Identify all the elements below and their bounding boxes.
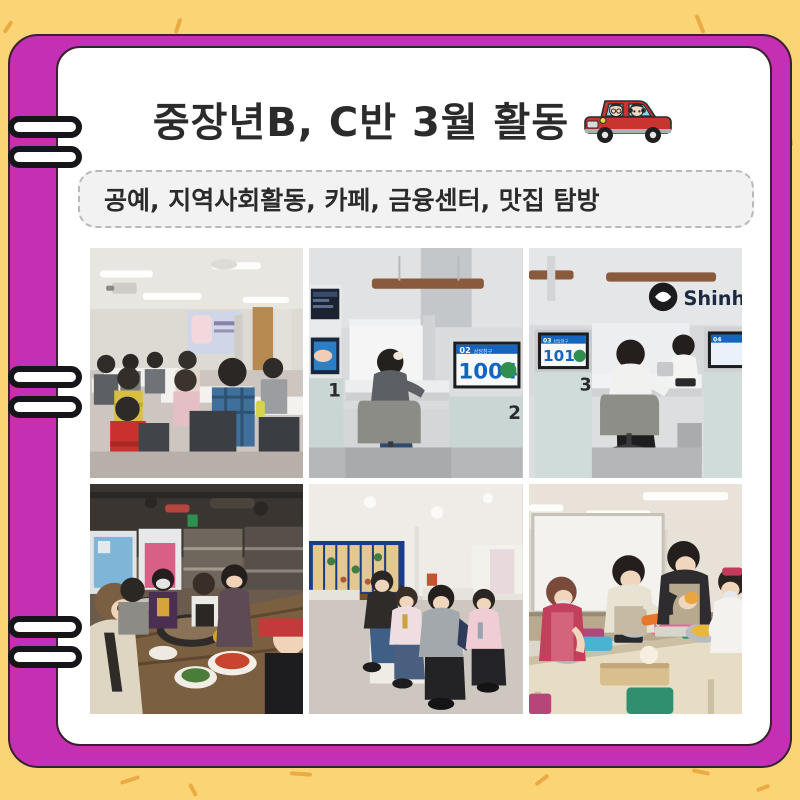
- binder-ring: [8, 396, 82, 418]
- photo-classroom-lecture: [90, 248, 303, 478]
- binder-ring: [8, 616, 82, 638]
- svg-text:상담창구: 상담창구: [553, 338, 568, 344]
- confetti-dash: [692, 768, 710, 776]
- confetti-dash: [694, 14, 705, 34]
- confetti-dash: [2, 20, 13, 34]
- svg-text:Shinha: Shinha: [683, 287, 742, 310]
- subtitle-box: 공예, 지역사회활동, 카페, 금융센터, 맛집 탐방: [78, 170, 754, 228]
- svg-text:상담창구: 상담창구: [474, 348, 493, 355]
- photo-shinhan-bank-1010: Shinha 03 상담창구 1010 3: [529, 248, 742, 478]
- svg-text:03: 03: [543, 338, 551, 345]
- page-title: 중장년B, C반 3월 활동: [153, 90, 569, 148]
- photo-bank-counter-1004: 1: [309, 248, 522, 478]
- poster-header: 중장년B, C반 3월 활동: [58, 48, 772, 248]
- poster-sheet: 중장년B, C반 3월 활동: [56, 46, 772, 746]
- confetti-dash: [174, 18, 183, 34]
- confetti-dash: [756, 784, 771, 793]
- svg-text:04: 04: [713, 337, 721, 344]
- binder-ring: [8, 646, 82, 668]
- svg-text:1: 1: [328, 381, 341, 402]
- binder-ring: [8, 116, 82, 138]
- photo-grid: 1: [90, 248, 742, 714]
- svg-text:3: 3: [579, 375, 591, 395]
- binder-ring: [8, 366, 82, 388]
- photo-museum-bench: [309, 484, 522, 714]
- photo-cooking-class: [529, 484, 742, 714]
- title-row: 중장년B, C반 3월 활동: [58, 90, 772, 148]
- svg-text:2: 2: [509, 403, 522, 424]
- subtitle-text: 공예, 지역사회활동, 카페, 금융센터, 맛집 탐방: [80, 181, 600, 217]
- poster-canvas: 중장년B, C반 3월 활동: [0, 0, 800, 800]
- confetti-dash: [290, 771, 312, 777]
- binder-ring: [8, 146, 82, 168]
- confetti-dash: [120, 775, 140, 785]
- confetti-dash: [534, 773, 549, 786]
- svg-text:02: 02: [460, 345, 471, 355]
- red-car-with-two-passengers-icon: [579, 91, 679, 147]
- photo-restaurant-meal: [90, 484, 303, 714]
- confetti-dash: [188, 783, 198, 797]
